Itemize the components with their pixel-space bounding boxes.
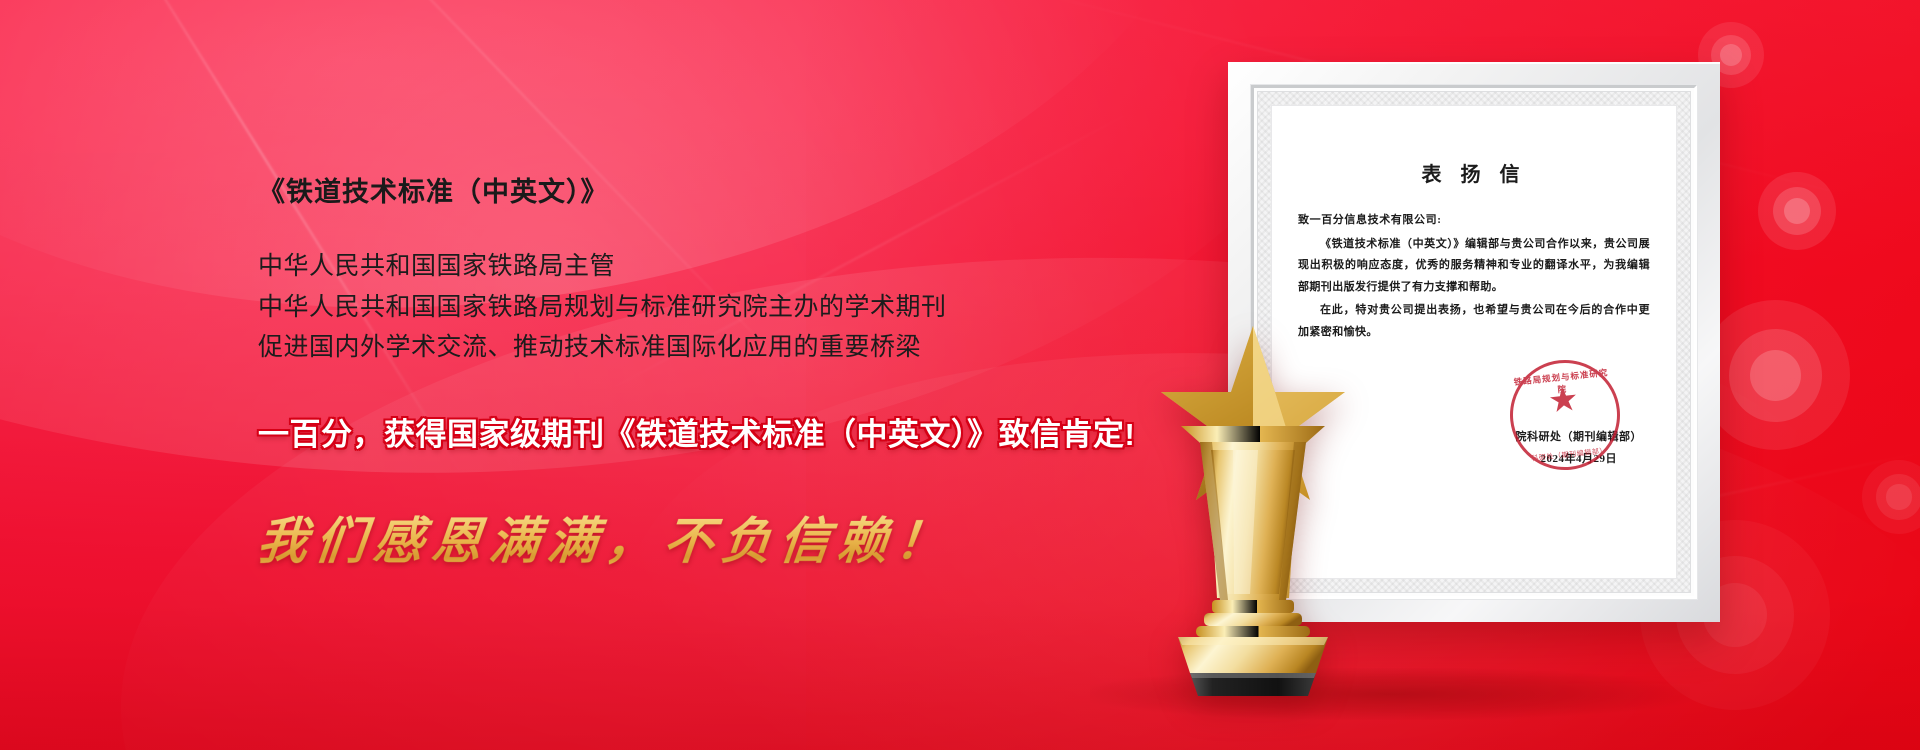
letter-salutation: 致一百分信息技术有限公司:: [1298, 211, 1650, 227]
headline-text: 一百分，获得国家级期刊《铁道技术标准（中英文）》致信肯定!: [258, 416, 1258, 455]
left-copy-block: 《铁道技术标准（中英文）》 中华人民共和国国家铁路局主管 中华人民共和国国家铁路…: [258, 176, 1258, 573]
trophy-star-icon: [1138, 318, 1368, 700]
letter-paragraph-1: 《铁道技术标准（中英文）》编辑部与贵公司合作以来，贵公司展现出积极的响应态度，优…: [1298, 234, 1650, 298]
seal-star-glyph: ★: [1547, 399, 1581, 403]
calligraphy-slogan: 我们感恩满满，不负信赖！: [254, 501, 958, 573]
trophy-stem: [1196, 600, 1310, 637]
description-line-2: 中华人民共和国国家铁路局规划与标准研究院主办的学术期刊: [258, 287, 1258, 328]
trophy-base: [1178, 637, 1328, 696]
description-line-3: 促进国内外学术交流、推动技术标准国际化应用的重要桥梁: [258, 327, 1258, 368]
description-line-1: 中华人民共和国国家铁路局主管: [258, 246, 1258, 287]
promo-banner: 《铁道技术标准（中英文）》 中华人民共和国国家铁路局主管 中华人民共和国国家铁路…: [0, 0, 1920, 750]
letter-title: 表 扬 信: [1298, 158, 1650, 187]
journal-title: 《铁道技术标准（中英文）》: [258, 176, 1258, 208]
trophy-cup: [1181, 426, 1325, 600]
